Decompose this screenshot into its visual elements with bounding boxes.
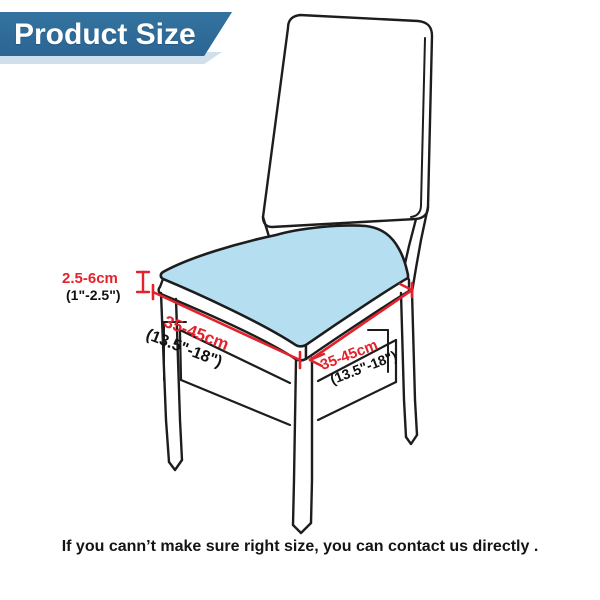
dimension-height-indicator (137, 272, 149, 292)
chair-leg-right-outer (401, 293, 406, 437)
chair-leg-center-outer (293, 360, 296, 525)
chair-leg-center-foot (293, 523, 311, 533)
chair-apron-left-bottom (181, 380, 290, 425)
chair-leg-right-foot (406, 435, 417, 444)
chair-leg-center-inner (311, 358, 312, 523)
chair-leg-right-inner (412, 292, 417, 435)
footer-caption: If you cann’t make sure right size, you … (0, 538, 600, 556)
dimension-label-seat-height: 2.5-6cm (1"-2.5") (62, 270, 121, 304)
seat-height-inch: (1"-2.5") (66, 287, 121, 304)
chair-leg-front-left-foot (169, 460, 182, 470)
product-size-infographic: Product Size (0, 0, 600, 600)
chair-back-panel (263, 15, 432, 227)
seat-height-cm: 2.5-6cm (62, 270, 121, 287)
